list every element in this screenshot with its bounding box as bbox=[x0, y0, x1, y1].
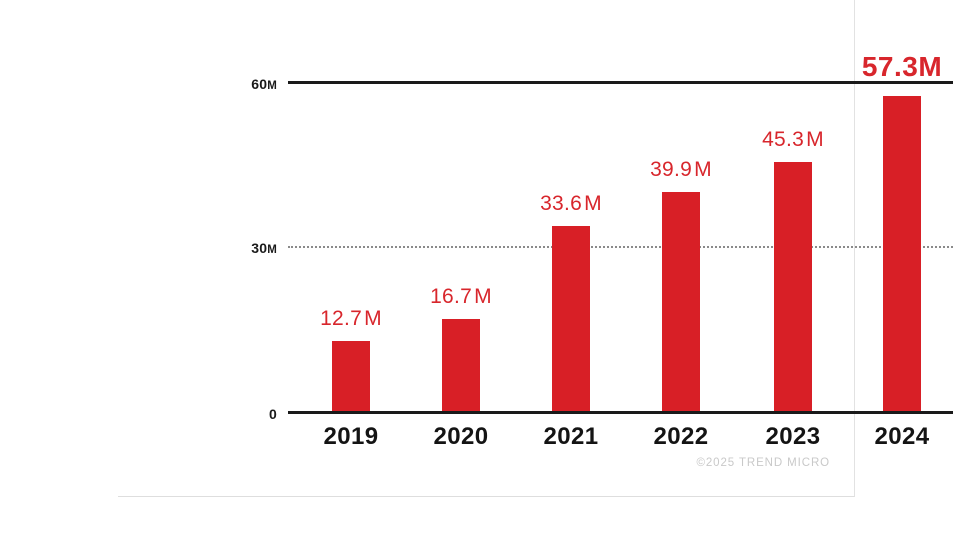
bar-2019: 12.7M 2019 bbox=[332, 341, 370, 411]
bar-2023: 45.3M 2023 bbox=[774, 162, 812, 411]
bar-value-2021: 33.6M bbox=[540, 192, 602, 216]
bar-2024: 57.3M 2024 bbox=[883, 96, 921, 411]
xtick-label-2024: 2024 bbox=[875, 423, 930, 451]
xtick-label-2022: 2022 bbox=[654, 423, 709, 451]
axis-line-baseline: 0 bbox=[288, 411, 953, 414]
axis-line-60m: 60M bbox=[288, 81, 953, 84]
chart-screenshot: 60M 30M 0 12.7M 2019 16.7M 2020 33.6M 20 bbox=[0, 0, 976, 533]
gridline-30m: 30M bbox=[288, 246, 953, 248]
xtick-label-2021: 2021 bbox=[544, 423, 599, 451]
bar-value-2023: 45.3M bbox=[762, 128, 824, 152]
ytick-label-60m: 60M bbox=[251, 76, 277, 92]
ytick-label-30m: 30M bbox=[251, 240, 277, 256]
bar-value-2019: 12.7M bbox=[320, 307, 382, 331]
chart-card: 60M 30M 0 12.7M 2019 16.7M 2020 33.6M 20 bbox=[118, 0, 855, 497]
xtick-label-2019: 2019 bbox=[324, 423, 379, 451]
ytick-label-0: 0 bbox=[269, 406, 277, 422]
bar-2021: 33.6M 2021 bbox=[552, 226, 590, 411]
xtick-label-2023: 2023 bbox=[766, 423, 821, 451]
bar-value-2020: 16.7M bbox=[430, 285, 492, 309]
xtick-label-2020: 2020 bbox=[434, 423, 489, 451]
plot-area: 60M 30M 0 12.7M 2019 16.7M 2020 33.6M 20 bbox=[288, 81, 953, 411]
bar-2022: 39.9M 2022 bbox=[662, 192, 700, 411]
bar-value-2022: 39.9M bbox=[650, 158, 712, 182]
bar-value-2024: 57.3M bbox=[862, 51, 942, 83]
bar-2020: 16.7M 2020 bbox=[442, 319, 480, 411]
copyright-credit: ©2025 TREND MICRO bbox=[697, 457, 830, 469]
